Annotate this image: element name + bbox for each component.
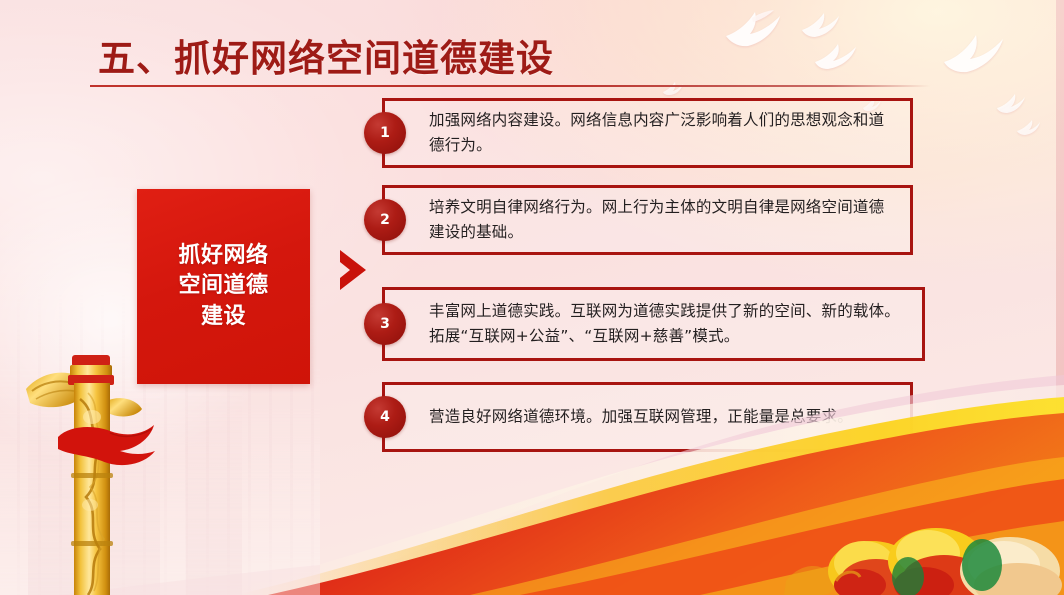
item-number-badge: 1 (364, 112, 406, 154)
item-text: 丰富网上道德实践。互联网为道德实践提供了新的空间、新的载体。拓展“互联网+公益”… (429, 299, 910, 349)
item-number-badge: 2 (364, 199, 406, 241)
slide-canvas: 五、抓好网络空间道德建设 抓好网络 空间道德 建设 1 加强网络内容建设。网络信… (0, 0, 1064, 595)
main-topic-line-1: 抓好网络 (178, 241, 268, 271)
dove-icon (722, 6, 784, 48)
dove-icon (662, 80, 684, 96)
content-box-2[interactable]: 2 培养文明自律网络行为。网上行为主体的文明自律是网络空间道德建设的基础。 (382, 185, 913, 255)
main-topic-label: 抓好网络 空间道德 建设 (178, 241, 268, 332)
main-topic-line-3: 建设 (178, 302, 268, 332)
golden-huabiao-pillar-icon (24, 355, 156, 595)
chevron-right-icon (337, 248, 369, 292)
main-topic-line-2: 空间道德 (178, 271, 268, 301)
title-underline (90, 85, 930, 87)
content-box-1[interactable]: 1 加强网络内容建设。网络信息内容广泛影响着人们的思想观念和道德行为。 (382, 98, 913, 168)
dove-icon (800, 10, 840, 38)
flower-cluster-icon (764, 485, 1064, 595)
item-number-badge: 3 (364, 303, 406, 345)
page-title: 五、抓好网络空间道德建设 (98, 28, 554, 82)
dove-icon (940, 28, 1006, 74)
dove-icon (996, 92, 1026, 114)
item-text: 培养文明自律网络行为。网上行为主体的文明自律是网络空间道德建设的基础。 (429, 195, 898, 245)
item-text: 加强网络内容建设。网络信息内容广泛影响着人们的思想观念和道德行为。 (429, 108, 898, 158)
dove-icon (1016, 118, 1042, 136)
dove-icon (812, 40, 858, 70)
